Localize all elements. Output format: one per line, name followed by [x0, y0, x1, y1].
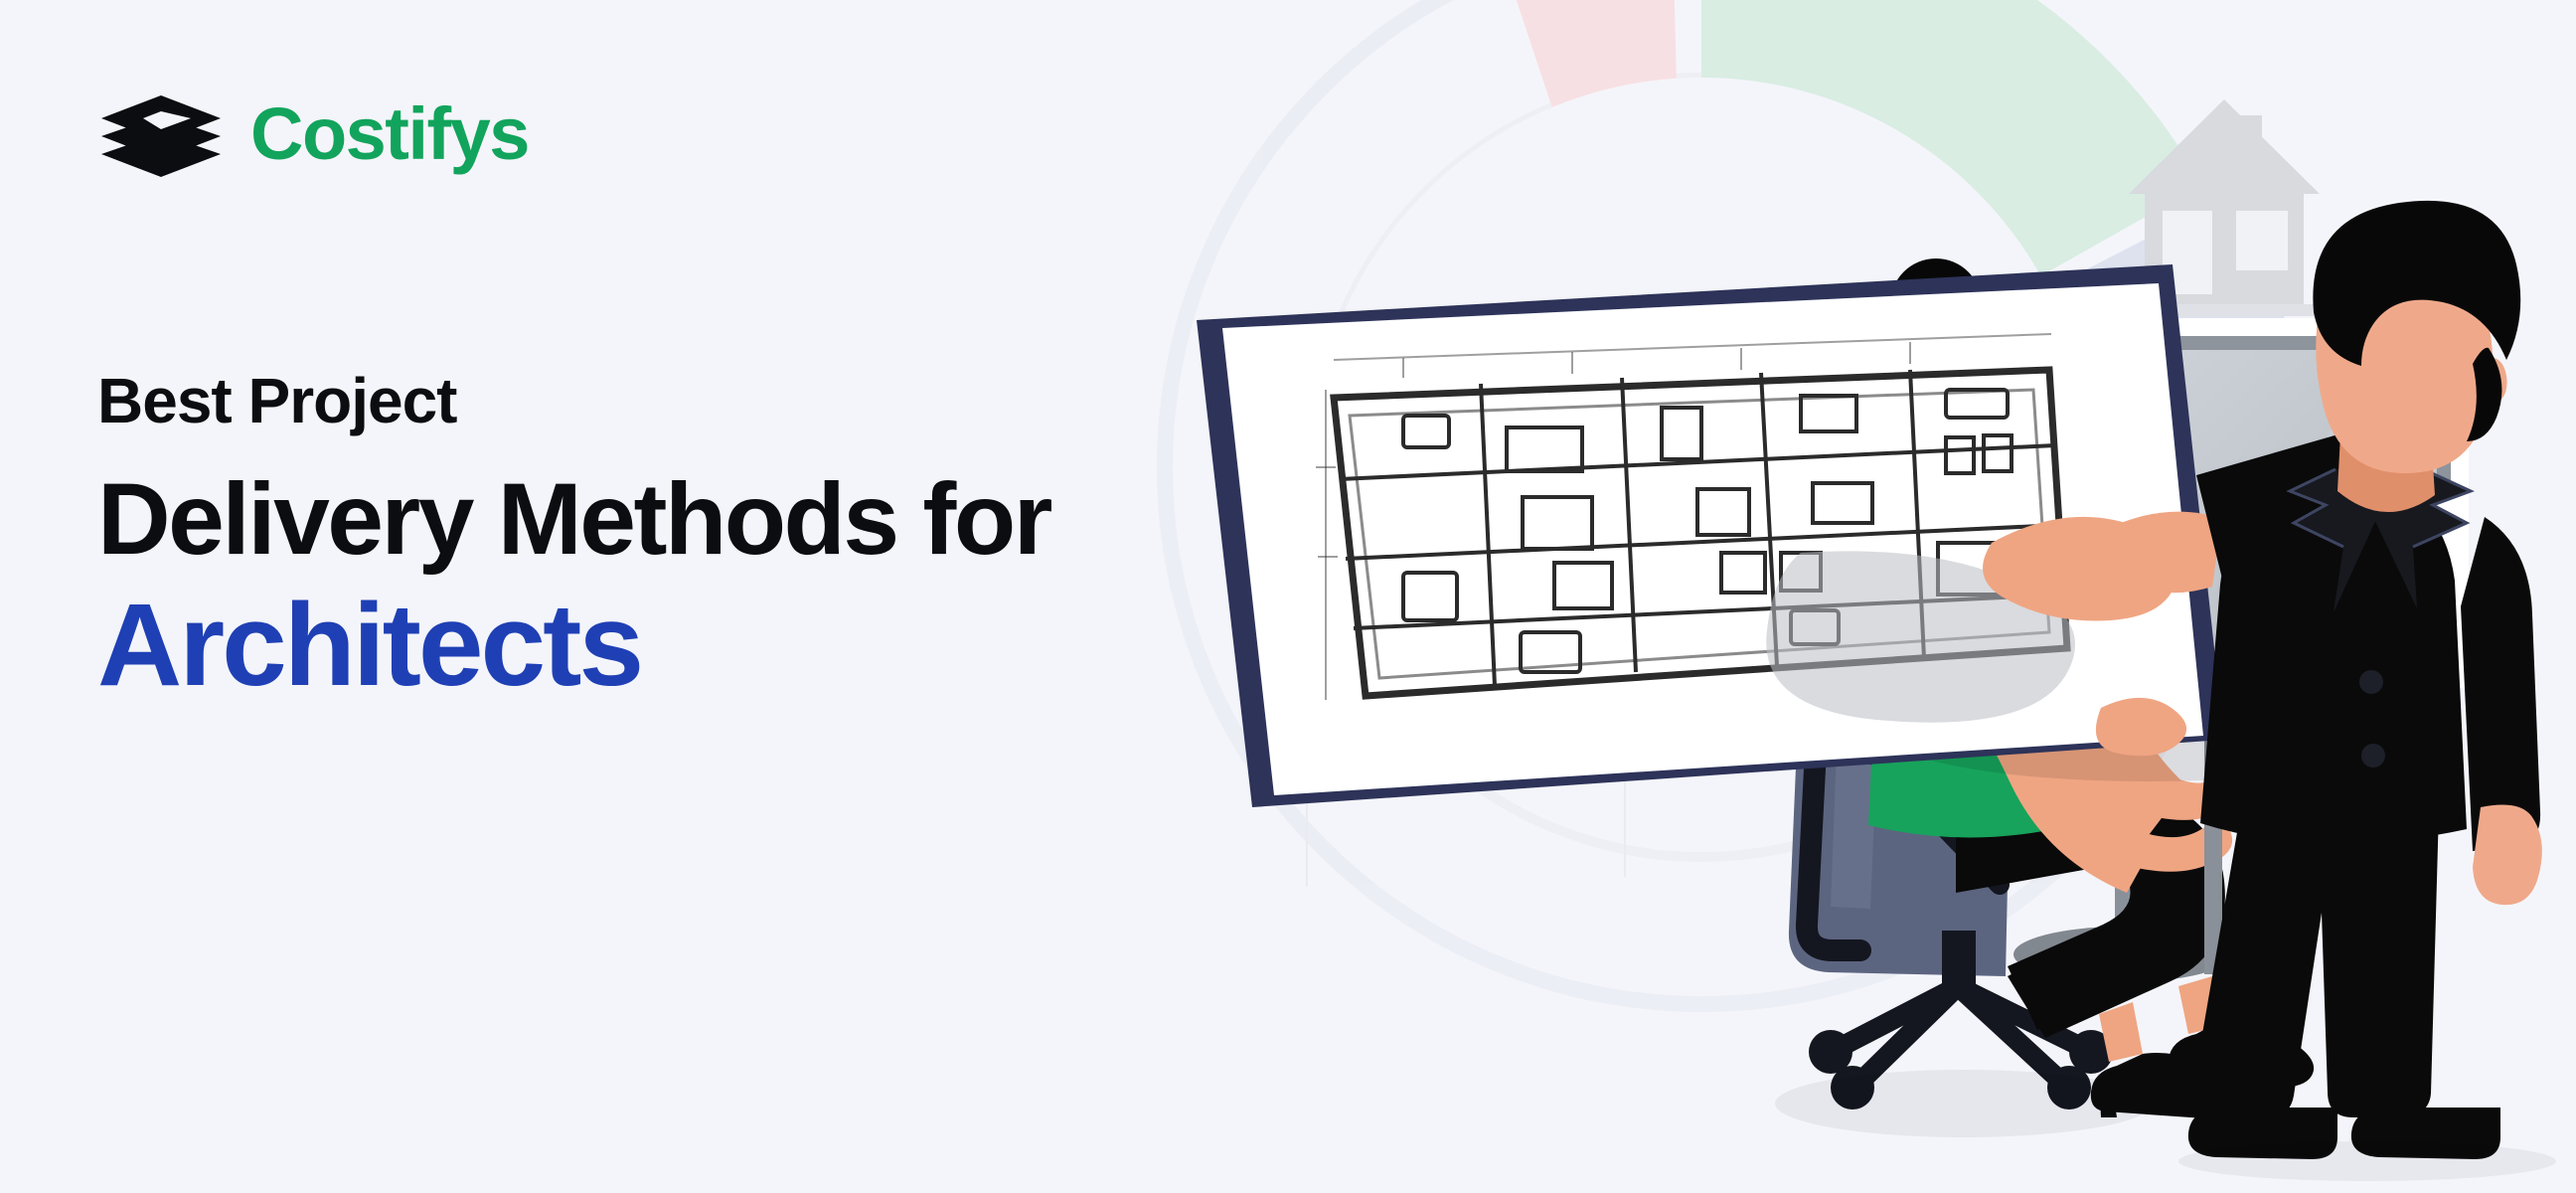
illustration-canvas — [1105, 0, 2576, 1193]
brand-name: Costifys — [250, 97, 529, 171]
brand-logo[interactable]: Costifys — [97, 91, 529, 177]
headline-accent: Architects — [97, 582, 1050, 711]
headline-block: Best Project Delivery Methods for Archit… — [97, 368, 1050, 711]
headline-kicker: Best Project — [97, 368, 1050, 434]
standing-businessman-hand — [2473, 805, 2542, 906]
hero-banner: Costifys Best Project Delivery Methods f… — [0, 0, 2576, 1193]
hero-illustration — [1105, 0, 2576, 1193]
headline-main: Delivery Methods for — [97, 462, 1050, 576]
stacked-layers-icon — [97, 91, 225, 177]
